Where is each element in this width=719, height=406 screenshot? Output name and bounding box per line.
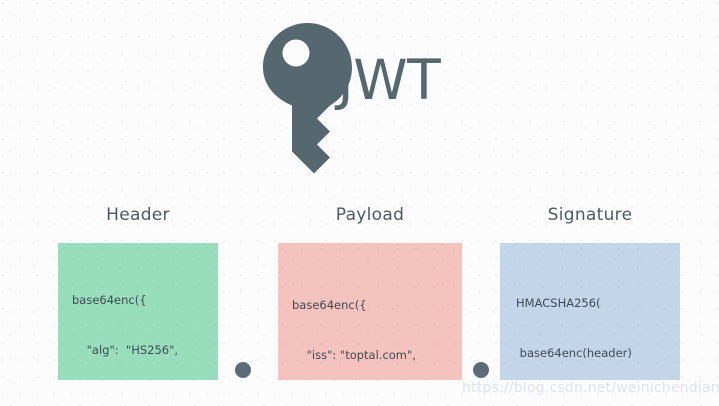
code-line: base64enc({ [292,297,450,314]
code-line: "iss": "toptal.com", [292,347,450,364]
jwt-diagram-page: JWT Header Payload Signature base64enc({… [0,0,719,406]
dot-header-payload-icon [235,362,251,378]
code-line: base64enc({ [72,292,206,309]
jwt-wordmark-text: JWT [338,53,441,108]
code-line: HMACSHA256( [516,295,668,312]
signature-section-label: Signature [500,205,680,225]
code-line: base64enc(header) [516,345,668,362]
payload-code-box: base64enc({ "iss": "toptal.com", "exp": … [278,243,462,380]
header-code-box: base64enc({ "alg": "HS256", "typ": "JWT"… [58,243,218,380]
code-line: "alg": "HS256", [72,342,206,359]
watermark: https://blog.csdn.net/weinichendian [462,380,719,396]
payload-section-label: Payload [278,205,462,225]
jwt-logo: JWT [0,18,719,178]
jwt-logo-inner: JWT [260,21,460,176]
signature-code-box: HMACSHA256( base64enc(header) + '.' +, b… [500,243,680,380]
header-section-label: Header [58,205,218,225]
dot-payload-signature-icon [473,362,489,378]
